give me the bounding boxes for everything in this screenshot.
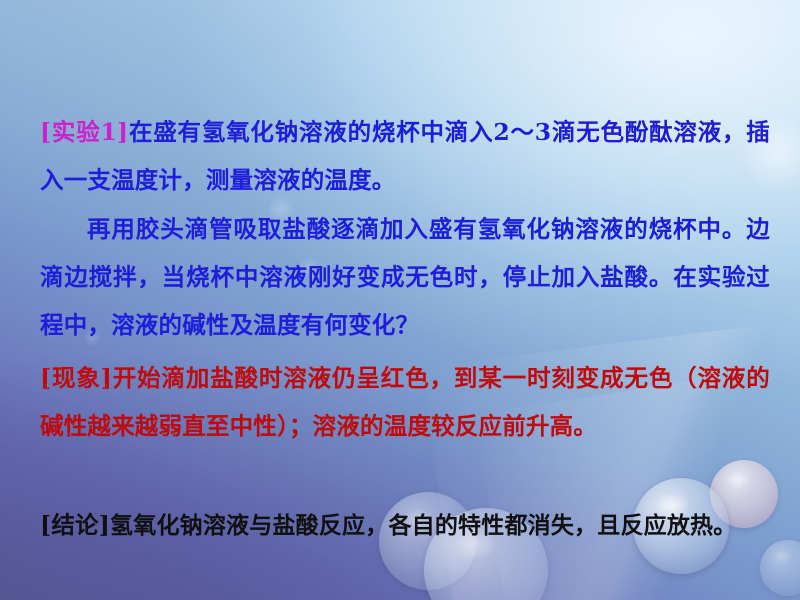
paragraph-experiment: [实验1]在盛有氢氧化钠溶液的烧杯中滴入2～3滴无色酚酞溶液，插入一支温度计，测…	[40, 108, 770, 204]
paragraph-phenomenon: [现象]开始滴加盐酸时溶液仍呈红色，到某一时刻变成无色（溶液的碱性越来越弱直至中…	[40, 354, 770, 450]
paragraph-continued: 再用胶头滴管吸取盐酸逐滴加入盛有氢氧化钠溶液的烧杯中。边滴边搅拌，当烧杯中溶液刚…	[40, 205, 770, 349]
paragraph-experiment-body: 在盛有氢氧化钠溶液的烧杯中滴入2～3滴无色酚酞溶液，插入一支温度计，测量溶液的温…	[40, 118, 770, 194]
paragraph-conclusion: [结论]氢氧化钠溶液与盐酸反应，各自的特性都消失，且反应放热。	[40, 501, 770, 550]
label-conclusion-tag: [结论]	[40, 511, 110, 539]
slide-canvas: [实验1]在盛有氢氧化钠溶液的烧杯中滴入2～3滴无色酚酞溶液，插入一支温度计，测…	[0, 0, 800, 600]
paragraph-conclusion-body: 氢氧化钠溶液与盐酸反应，各自的特性都消失，且反应放热。	[110, 512, 736, 539]
paragraph-continued-body: 再用胶头滴管吸取盐酸逐滴加入盛有氢氧化钠溶液的烧杯中。边滴边搅拌，当烧杯中溶液刚…	[40, 215, 770, 339]
paragraph-phenomenon-body: 开始滴加盐酸时溶液仍呈红色，到某一时刻变成无色（溶液的碱性越来越弱直至中性）；溶…	[40, 364, 770, 440]
label-phenomenon-tag: [现象]	[40, 364, 112, 392]
label-experiment-tag: [实验1]	[40, 118, 128, 146]
slide-text-content: [实验1]在盛有氢氧化钠溶液的烧杯中滴入2～3滴无色酚酞溶液，插入一支温度计，测…	[0, 0, 800, 600]
